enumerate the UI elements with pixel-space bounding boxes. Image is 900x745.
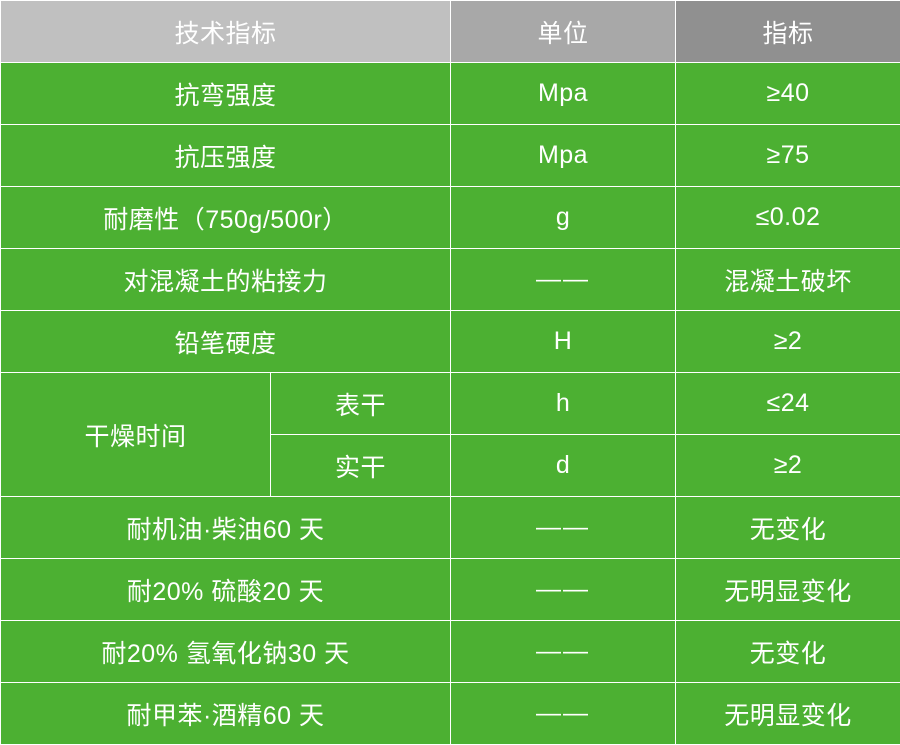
cell-indicator-name: 耐20% 氢氧化钠30 天	[1, 621, 451, 683]
cell-indicator-name: 抗弯强度	[1, 63, 451, 125]
em-dash-placeholder: ——	[536, 267, 590, 292]
cell-value: 无变化	[676, 621, 900, 683]
cell-value: 无明显变化	[676, 683, 900, 745]
column-header-technical-index: 技术指标	[1, 1, 451, 63]
table-row: 抗弯强度 Mpa ≥40	[1, 63, 900, 125]
cell-value: ≥2	[676, 311, 900, 373]
cell-unit: h	[451, 373, 676, 435]
cell-indicator-name: 耐机油·柴油60 天	[1, 497, 451, 559]
cell-indicator-name: 对混凝土的粘接力	[1, 249, 451, 311]
cell-unit: ——	[451, 683, 676, 745]
cell-indicator-name: 耐磨性（750g/500r）	[1, 187, 451, 249]
cell-value: ≤24	[676, 373, 900, 435]
cell-unit: ——	[451, 249, 676, 311]
table-row: 耐20% 氢氧化钠30 天 —— 无变化	[1, 621, 900, 683]
cell-value: ≥40	[676, 63, 900, 125]
cell-value: 无变化	[676, 497, 900, 559]
table-header: 技术指标 单位 指标	[1, 1, 900, 63]
table-row-drying-surface: 干燥时间 表干 h ≤24	[1, 373, 900, 435]
cell-unit: H	[451, 311, 676, 373]
cell-value: ≥2	[676, 435, 900, 497]
cell-sub-indicator-hard-dry: 实干	[271, 435, 451, 497]
cell-unit: Mpa	[451, 125, 676, 187]
table-row: 耐磨性（750g/500r） g ≤0.02	[1, 187, 900, 249]
table-row: 耐甲苯·酒精60 天 —— 无明显变化	[1, 683, 900, 745]
cell-indicator-name: 抗压强度	[1, 125, 451, 187]
em-dash-placeholder: ——	[536, 639, 590, 664]
header-row: 技术指标 单位 指标	[1, 1, 900, 63]
specification-table: 技术指标 单位 指标 抗弯强度 Mpa ≥40 抗压强度 Mpa ≥75 耐磨性…	[0, 0, 900, 745]
cell-indicator-name: 耐20% 硫酸20 天	[1, 559, 451, 621]
cell-unit: d	[451, 435, 676, 497]
table-row: 耐20% 硫酸20 天 —— 无明显变化	[1, 559, 900, 621]
cell-indicator-name: 铅笔硬度	[1, 311, 451, 373]
cell-unit: g	[451, 187, 676, 249]
cell-unit: Mpa	[451, 63, 676, 125]
table-row: 对混凝土的粘接力 —— 混凝土破坏	[1, 249, 900, 311]
column-header-unit: 单位	[451, 1, 676, 63]
table-row: 铅笔硬度 H ≥2	[1, 311, 900, 373]
table-row: 耐机油·柴油60 天 —— 无变化	[1, 497, 900, 559]
table-body: 抗弯强度 Mpa ≥40 抗压强度 Mpa ≥75 耐磨性（750g/500r）…	[1, 63, 900, 745]
cell-indicator-name: 耐甲苯·酒精60 天	[1, 683, 451, 745]
cell-unit: ——	[451, 559, 676, 621]
em-dash-placeholder: ——	[536, 701, 590, 726]
column-header-index-value: 指标	[676, 1, 900, 63]
cell-sub-indicator-surface-dry: 表干	[271, 373, 451, 435]
cell-indicator-name-drying-time: 干燥时间	[1, 373, 271, 497]
cell-value: ≥75	[676, 125, 900, 187]
cell-unit: ——	[451, 497, 676, 559]
em-dash-placeholder: ——	[536, 577, 590, 602]
cell-value: 无明显变化	[676, 559, 900, 621]
cell-value: 混凝土破坏	[676, 249, 900, 311]
table-row: 抗压强度 Mpa ≥75	[1, 125, 900, 187]
cell-value: ≤0.02	[676, 187, 900, 249]
em-dash-placeholder: ——	[536, 515, 590, 540]
cell-unit: ——	[451, 621, 676, 683]
